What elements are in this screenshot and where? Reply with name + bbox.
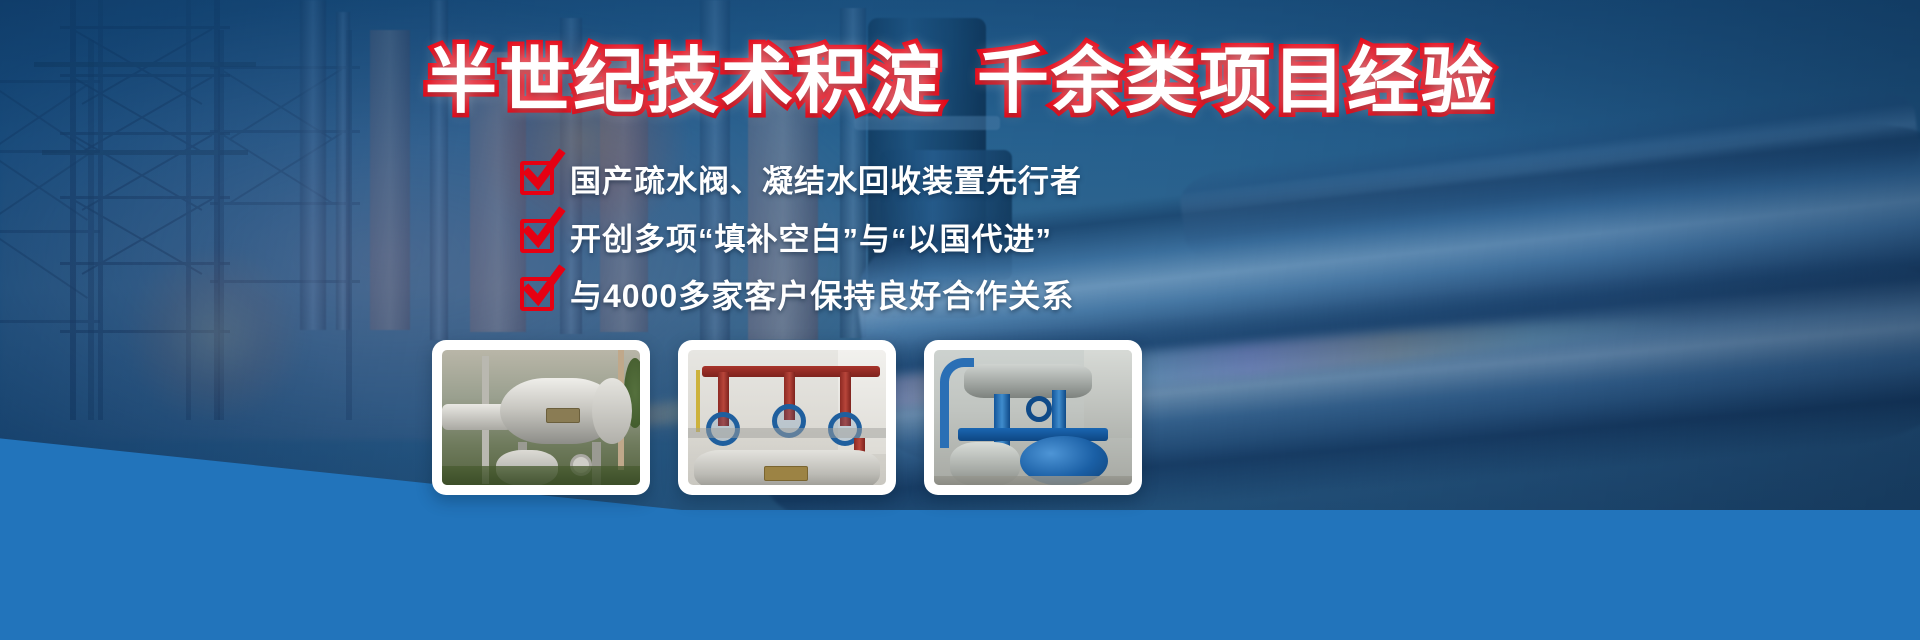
product-photo-1 [442,350,640,485]
banner-content: 半世纪技术积淀千余类项目经验 国产疏水阀、凝结水回收装置先行者 开创多项“填补空… [0,0,1920,640]
feature-text: 与4000多家客户保持良好合作关系 [570,271,1074,317]
feature-list: 国产疏水阀、凝结水回收装置先行者 开创多项“填补空白”与“以国代进” 与4000… [520,152,1120,326]
photo-card[interactable] [432,340,650,495]
promo-banner: 半世纪技术积淀千余类项目经验 国产疏水阀、凝结水回收装置先行者 开创多项“填补空… [0,0,1920,640]
checkbox-checked-icon [520,277,554,311]
list-item: 开创多项“填补空白”与“以国代进” [520,210,1120,262]
headline-right: 千余类项目经验 [977,42,1495,122]
list-item: 国产疏水阀、凝结水回收装置先行者 [520,152,1120,204]
list-item: 与4000多家客户保持良好合作关系 [520,268,1120,320]
photo-gallery [432,340,1142,495]
feature-text: 国产疏水阀、凝结水回收装置先行者 [570,156,1082,201]
page-title: 半世纪技术积淀千余类项目经验 [0,44,1920,120]
checkbox-checked-icon [520,161,554,195]
photo-card[interactable] [924,340,1142,495]
product-photo-3 [934,350,1132,485]
photo-card[interactable] [678,340,896,495]
checkbox-checked-icon [520,219,554,253]
product-photo-2 [688,350,886,485]
feature-text: 开创多项“填补空白”与“以国代进” [570,214,1052,259]
headline-left: 半世纪技术积淀 [425,42,943,122]
